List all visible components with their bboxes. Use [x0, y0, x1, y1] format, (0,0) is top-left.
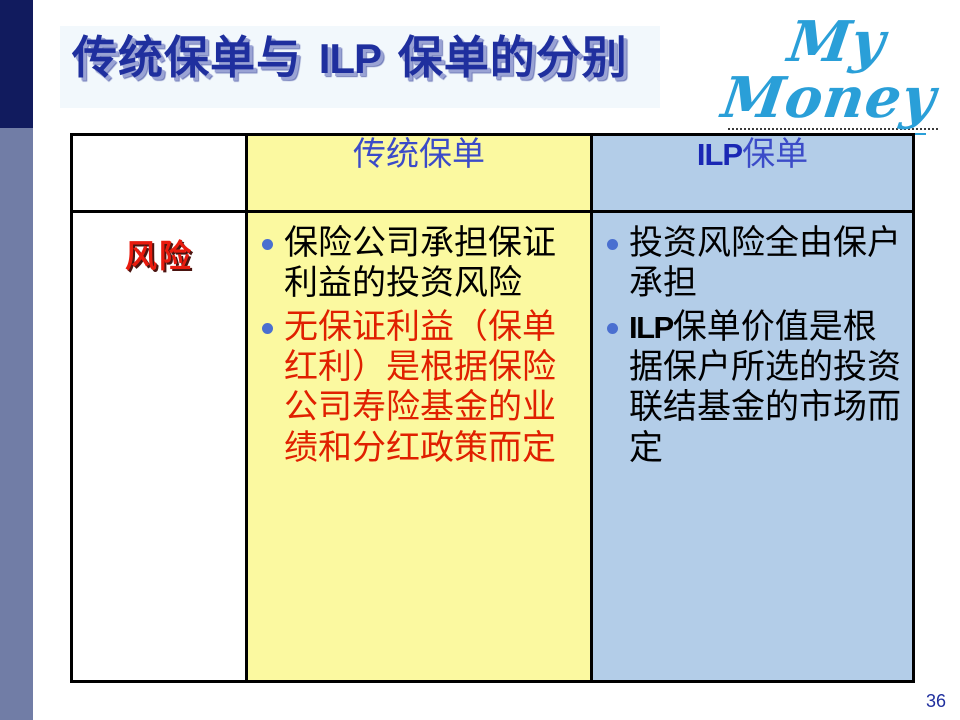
page-number: 36: [926, 691, 946, 712]
list-item: 无保证利益（保单红利）是根据保险公司寿险基金的业绩和分红政策而定: [258, 307, 584, 467]
comparison-table: 传统保单 ILP保单 风险 保险公司承担保证利益的投资风险 无保证利益（保单红利…: [70, 133, 915, 683]
ilp-bullet-list: 投资风险全由保户承担 ILP保单价值是根据保户所选的投资联结基金的市场而定: [593, 213, 912, 478]
cell-traditional-content: 保险公司承担保证利益的投资风险 无保证利益（保单红利）是根据保险公司寿险基金的业…: [247, 212, 592, 682]
list-item: ILP保单价值是根据保户所选的投资联结基金的市场而定: [603, 307, 906, 467]
row-label-cell: 风险: [72, 212, 247, 682]
row-label-risk: 风险: [73, 213, 245, 277]
table-row: 风险 保险公司承担保证利益的投资风险 无保证利益（保单红利）是根据保险公司寿险基…: [72, 212, 914, 682]
list-item: 保险公司承担保证利益的投资风险: [258, 223, 584, 303]
header-cell-corner: [72, 135, 247, 212]
header-cell-traditional: 传统保单: [247, 135, 592, 212]
title-text-part1: 传统保单与: [72, 31, 302, 84]
header-traditional-label: 传统保单: [353, 134, 485, 173]
title-text-part2: 保单的分别: [398, 31, 628, 84]
sidebar-accent-top: [0, 0, 33, 128]
header-cell-ilp: ILP保单: [592, 135, 914, 212]
header-ilp-label: ILP保单: [697, 134, 808, 173]
ilp-inline-token: ILP: [629, 310, 673, 345]
title-ilp-token: ILP: [319, 35, 381, 82]
list-item: 投资风险全由保户承担: [603, 223, 906, 303]
header-ilp-rest: 保单: [742, 134, 808, 173]
logo-wordmark: My Money: [706, 14, 960, 126]
cell-ilp-content: 投资风险全由保户承担 ILP保单价值是根据保户所选的投资联结基金的市场而定: [592, 212, 914, 682]
table-header-row: 传统保单 ILP保单: [72, 135, 914, 212]
header-ilp-token: ILP: [697, 137, 742, 172]
page-title: 传统保单与 ILP 保单的分别: [72, 33, 672, 83]
traditional-bullet-list: 保险公司承担保证利益的投资风险 无保证利益（保单红利）是根据保险公司寿险基金的业…: [248, 213, 590, 478]
sidebar-accent-bottom: [0, 128, 33, 720]
brand-logo: My Money Smart Investing For Everyone.: [714, 12, 952, 124]
